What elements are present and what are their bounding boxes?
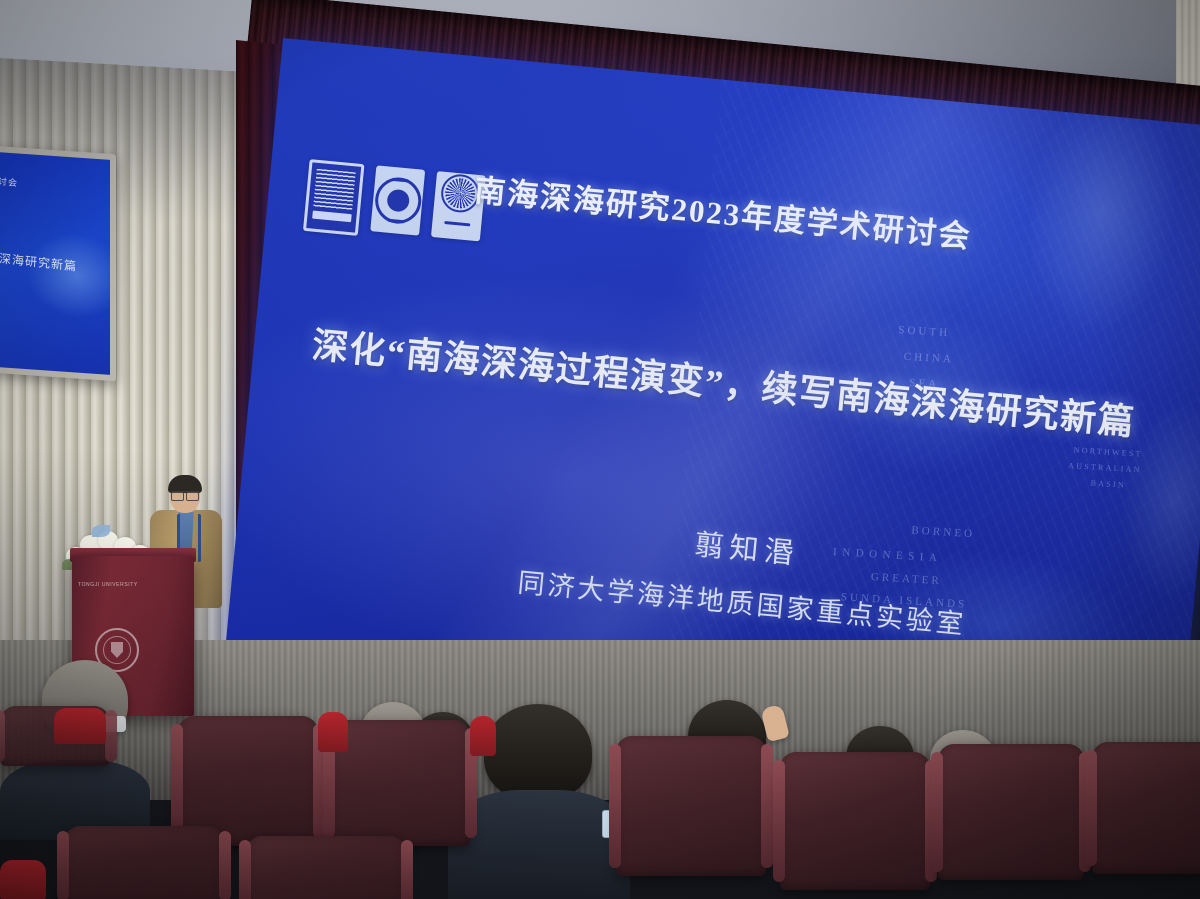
conference-photo-scene: …术研讨会 …南海深海研究新篇 …实验室 SOUTH CHINA SEA BOR… xyxy=(0,0,1200,899)
auditorium-seat xyxy=(780,752,930,890)
scsdte-logo xyxy=(303,159,365,236)
auditorium-seat xyxy=(938,744,1084,880)
organizer-logo-strip xyxy=(303,159,486,247)
speaker-glasses-icon xyxy=(171,491,199,499)
auditorium-seat xyxy=(330,720,470,846)
auditorium-seat-cushion xyxy=(54,708,106,744)
side-monitor-line-1: …术研讨会 xyxy=(0,171,18,189)
podium-brand-text: TONGJI UNIVERSITY xyxy=(78,582,148,588)
auditorium-seat-cushion xyxy=(318,712,348,752)
auditorium-seat-cushion xyxy=(470,716,496,756)
side-monitor-screen: …术研讨会 …南海深海研究新篇 …实验室 xyxy=(0,152,110,375)
auditorium-seat xyxy=(1092,742,1200,874)
auditorium-seat-cushion xyxy=(0,860,46,899)
attendee-head-front-2 xyxy=(484,704,592,800)
auditorium-seat xyxy=(616,736,766,876)
auditorium-seat xyxy=(246,836,406,899)
tongji-university-seal xyxy=(370,165,425,235)
side-monitor-line-2: …南海深海研究新篇 xyxy=(0,245,77,274)
auditorium-seat xyxy=(64,826,224,899)
side-repeater-monitor: …术研讨会 …南海深海研究新篇 …实验室 xyxy=(0,146,116,382)
